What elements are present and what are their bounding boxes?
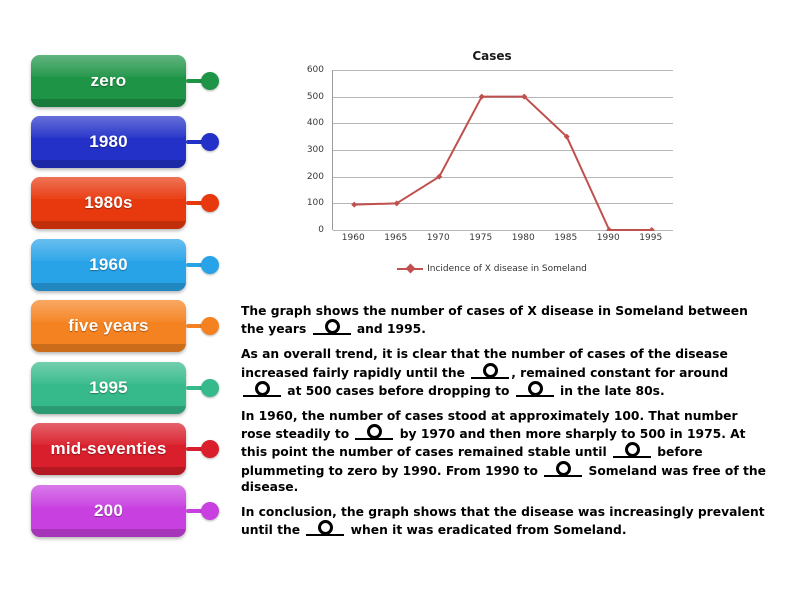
tile-row: 1980s (31, 177, 226, 229)
draggable-tile[interactable]: 200 (31, 485, 186, 537)
paragraph-text: and 1995. (353, 322, 426, 336)
tile-label: 1960 (83, 255, 134, 275)
connector-dot-handle[interactable] (201, 317, 219, 335)
tile-row: mid-seventies (31, 423, 226, 475)
paragraph: As an overall trend, it is clear that th… (241, 346, 771, 399)
tile-row: zero (31, 55, 226, 107)
chart-legend: Incidence of X disease in Someland (292, 264, 692, 274)
tile-row: 1960 (31, 239, 226, 291)
draggable-tile[interactable]: five years (31, 300, 186, 352)
draggable-tile[interactable]: mid-seventies (31, 423, 186, 475)
answer-blank-dropzone[interactable] (613, 442, 651, 458)
data-point-marker (351, 202, 357, 208)
tile-connector (186, 485, 226, 537)
draggable-tiles-panel: zero19801980s1960five years1995mid-seven… (0, 0, 235, 600)
tile-row: 1995 (31, 362, 226, 414)
answer-blank-dropzone[interactable] (243, 381, 281, 397)
tile-connector (186, 177, 226, 229)
x-tick-label: 1985 (554, 233, 577, 243)
series-graphics (333, 70, 673, 231)
gap-fill-text: The graph shows the number of cases of X… (241, 303, 771, 538)
tile-label: 200 (88, 501, 129, 521)
plot-area (332, 70, 673, 230)
connector-dot-handle[interactable] (201, 440, 219, 458)
connector-dot-handle[interactable] (201, 133, 219, 151)
tile-label: 1980s (78, 193, 138, 213)
tile-connector (186, 55, 226, 107)
draggable-tile[interactable]: 1980s (31, 177, 186, 229)
x-tick-label: 1965 (384, 233, 407, 243)
x-tick-label: 1975 (469, 233, 492, 243)
paragraph-text: , remained constant for around (511, 366, 728, 380)
tile-connector (186, 116, 226, 168)
paragraph-text: when it was eradicated from Someland. (346, 523, 626, 537)
legend-label: Incidence of X disease in Someland (427, 264, 587, 274)
tile-connector (186, 423, 226, 475)
answer-blank-dropzone[interactable] (516, 381, 554, 397)
draggable-tile[interactable]: 1995 (31, 362, 186, 414)
y-tick-label: 400 (307, 118, 324, 128)
paragraph-text: in the late 80s. (556, 384, 665, 398)
x-tick-label: 1970 (427, 233, 450, 243)
tile-label: 1980 (83, 132, 134, 152)
connector-dot-handle[interactable] (201, 256, 219, 274)
y-tick-label: 600 (307, 65, 324, 75)
paragraph: In 1960, the number of cases stood at ap… (241, 408, 771, 495)
paragraph: In conclusion, the graph shows that the … (241, 504, 771, 538)
answer-blank-dropzone[interactable] (306, 520, 344, 536)
connector-dot-handle[interactable] (201, 72, 219, 90)
connector-dot-handle[interactable] (201, 194, 219, 212)
x-tick-label: 1960 (342, 233, 365, 243)
answer-blank-dropzone[interactable] (313, 319, 351, 335)
y-axis-tick-labels: 0100200300400500600 (292, 70, 328, 230)
y-tick-label: 200 (307, 172, 324, 182)
paragraph-text: at 500 cases before dropping to (283, 384, 514, 398)
chart-container: Cases 0100200300400500600 19601965197019… (292, 48, 692, 288)
draggable-tile[interactable]: 1960 (31, 239, 186, 291)
x-axis-tick-labels: 19601965197019751980198519901995 (332, 233, 672, 249)
connector-dot-handle[interactable] (201, 379, 219, 397)
tile-connector (186, 239, 226, 291)
y-tick-label: 100 (307, 198, 324, 208)
plot-area-wrapper: 0100200300400500600 19601965197019751980… (292, 70, 692, 255)
chart-title: Cases (292, 48, 692, 64)
connector-dot-handle[interactable] (201, 502, 219, 520)
series-line (354, 97, 652, 230)
tile-row: 1980 (31, 116, 226, 168)
draggable-tile[interactable]: 1980 (31, 116, 186, 168)
tile-label: 1995 (83, 378, 134, 398)
y-tick-label: 0 (318, 225, 324, 235)
draggable-tile[interactable]: zero (31, 55, 186, 107)
x-tick-label: 1995 (639, 233, 662, 243)
legend-marker-icon (397, 264, 423, 274)
x-tick-label: 1980 (512, 233, 535, 243)
tile-label: zero (85, 71, 133, 91)
paragraph: The graph shows the number of cases of X… (241, 303, 771, 337)
answer-blank-dropzone[interactable] (355, 424, 393, 440)
y-tick-label: 500 (307, 92, 324, 102)
tile-connector (186, 300, 226, 352)
y-tick-label: 300 (307, 145, 324, 155)
tile-label: mid-seventies (45, 439, 173, 459)
tile-row: five years (31, 300, 226, 352)
answer-blank-dropzone[interactable] (471, 363, 509, 379)
answer-blank-dropzone[interactable] (544, 461, 582, 477)
tile-connector (186, 362, 226, 414)
x-tick-label: 1990 (597, 233, 620, 243)
tile-row: 200 (31, 485, 226, 537)
tile-label: five years (62, 316, 154, 336)
